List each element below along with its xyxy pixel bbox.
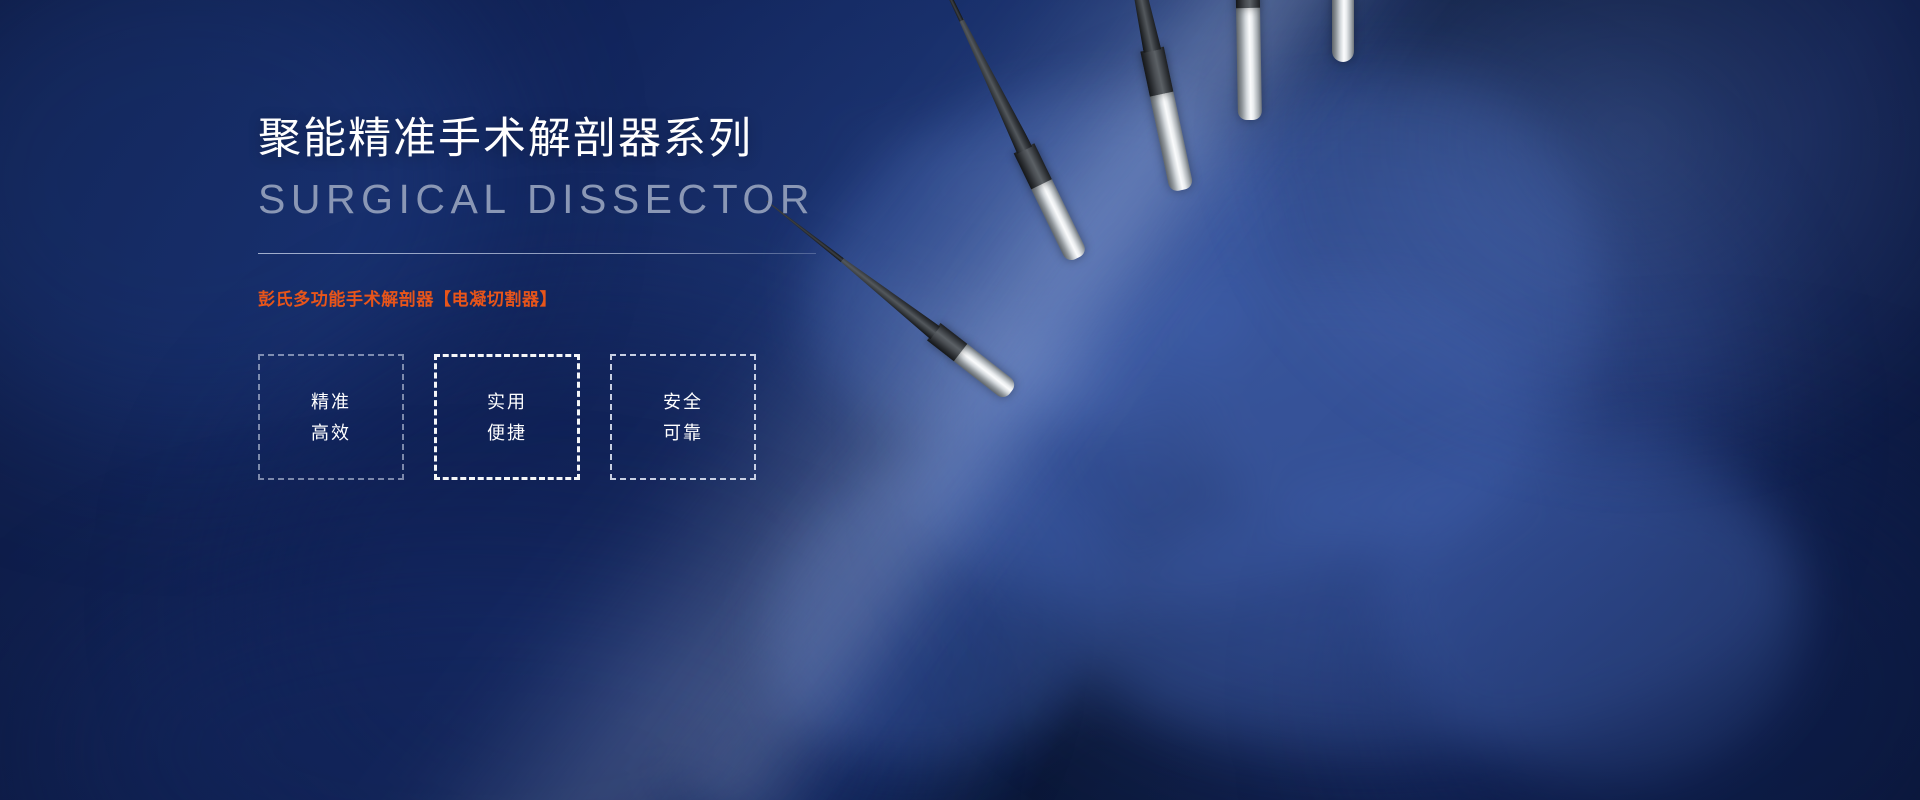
feature-box-safety-line1: 安全 bbox=[663, 393, 703, 411]
feature-box-practical[interactable]: 实用 便捷 bbox=[434, 354, 580, 480]
divider-rule bbox=[258, 253, 816, 254]
feature-box-precision[interactable]: 精准 高效 bbox=[258, 354, 404, 480]
feature-box-group: 精准 高效 实用 便捷 安全 可靠 bbox=[258, 354, 1018, 480]
page-title: 聚能精准手术解剖器系列 bbox=[258, 112, 1018, 167]
feature-box-safety-line2: 可靠 bbox=[663, 424, 703, 442]
feature-box-safety[interactable]: 安全 可靠 bbox=[610, 354, 756, 480]
feature-box-practical-line2: 便捷 bbox=[487, 424, 527, 442]
dissector-instrument-5 bbox=[1332, 0, 1354, 62]
surgical-dissector-fan bbox=[980, 0, 1920, 800]
product-hero-banner: 聚能精准手术解剖器系列 SURGICAL DISSECTOR 彭氏多功能手术解剖… bbox=[0, 0, 1920, 800]
feature-box-practical-line1: 实用 bbox=[487, 393, 527, 411]
background-blob bbox=[60, 560, 880, 800]
hero-copy-block: 聚能精准手术解剖器系列 SURGICAL DISSECTOR 彭氏多功能手术解剖… bbox=[258, 112, 1018, 480]
feature-box-precision-line2: 高效 bbox=[311, 424, 351, 442]
dissector-instrument-3 bbox=[1129, 0, 1194, 192]
dissector-instrument-4 bbox=[1234, 0, 1262, 120]
feature-box-precision-line1: 精准 bbox=[311, 393, 351, 411]
page-subtitle-english: SURGICAL DISSECTOR bbox=[258, 175, 1018, 223]
product-name-label: 彭氏多功能手术解剖器【电凝切割器】 bbox=[258, 285, 1018, 310]
